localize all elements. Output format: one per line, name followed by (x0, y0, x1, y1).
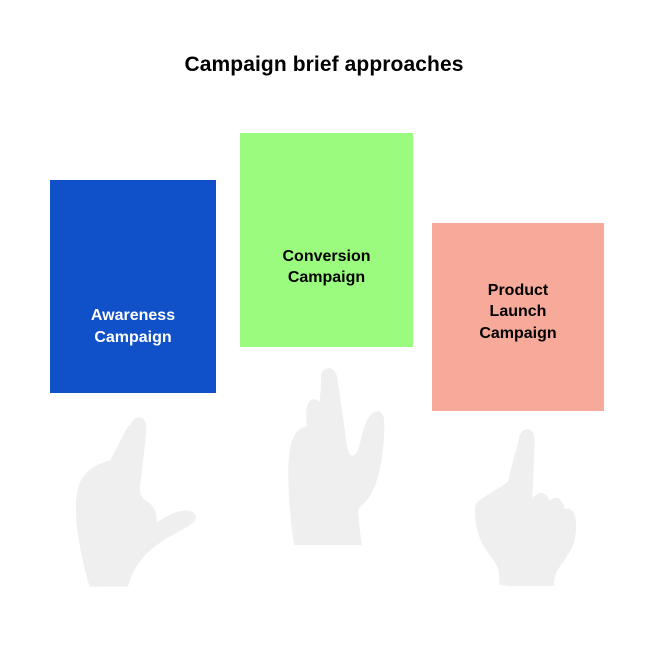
pointing-hand-icon (288, 368, 420, 546)
campaign-card-label: Awareness Campaign (91, 305, 175, 348)
campaign-card-product-launch[interactable]: Product Launch Campaign (432, 223, 604, 411)
slide-canvas: Campaign brief approaches Awareness Camp… (0, 0, 648, 672)
pointing-hand-icon (72, 404, 208, 590)
campaign-card-label: Product Launch Campaign (479, 280, 556, 344)
campaign-card-conversion[interactable]: Conversion Campaign (240, 133, 413, 347)
campaign-card-awareness[interactable]: Awareness Campaign (50, 180, 216, 393)
page-title: Campaign brief approaches (0, 52, 648, 77)
campaign-card-label: Conversion Campaign (282, 246, 370, 289)
pointing-hand-icon (468, 424, 598, 586)
